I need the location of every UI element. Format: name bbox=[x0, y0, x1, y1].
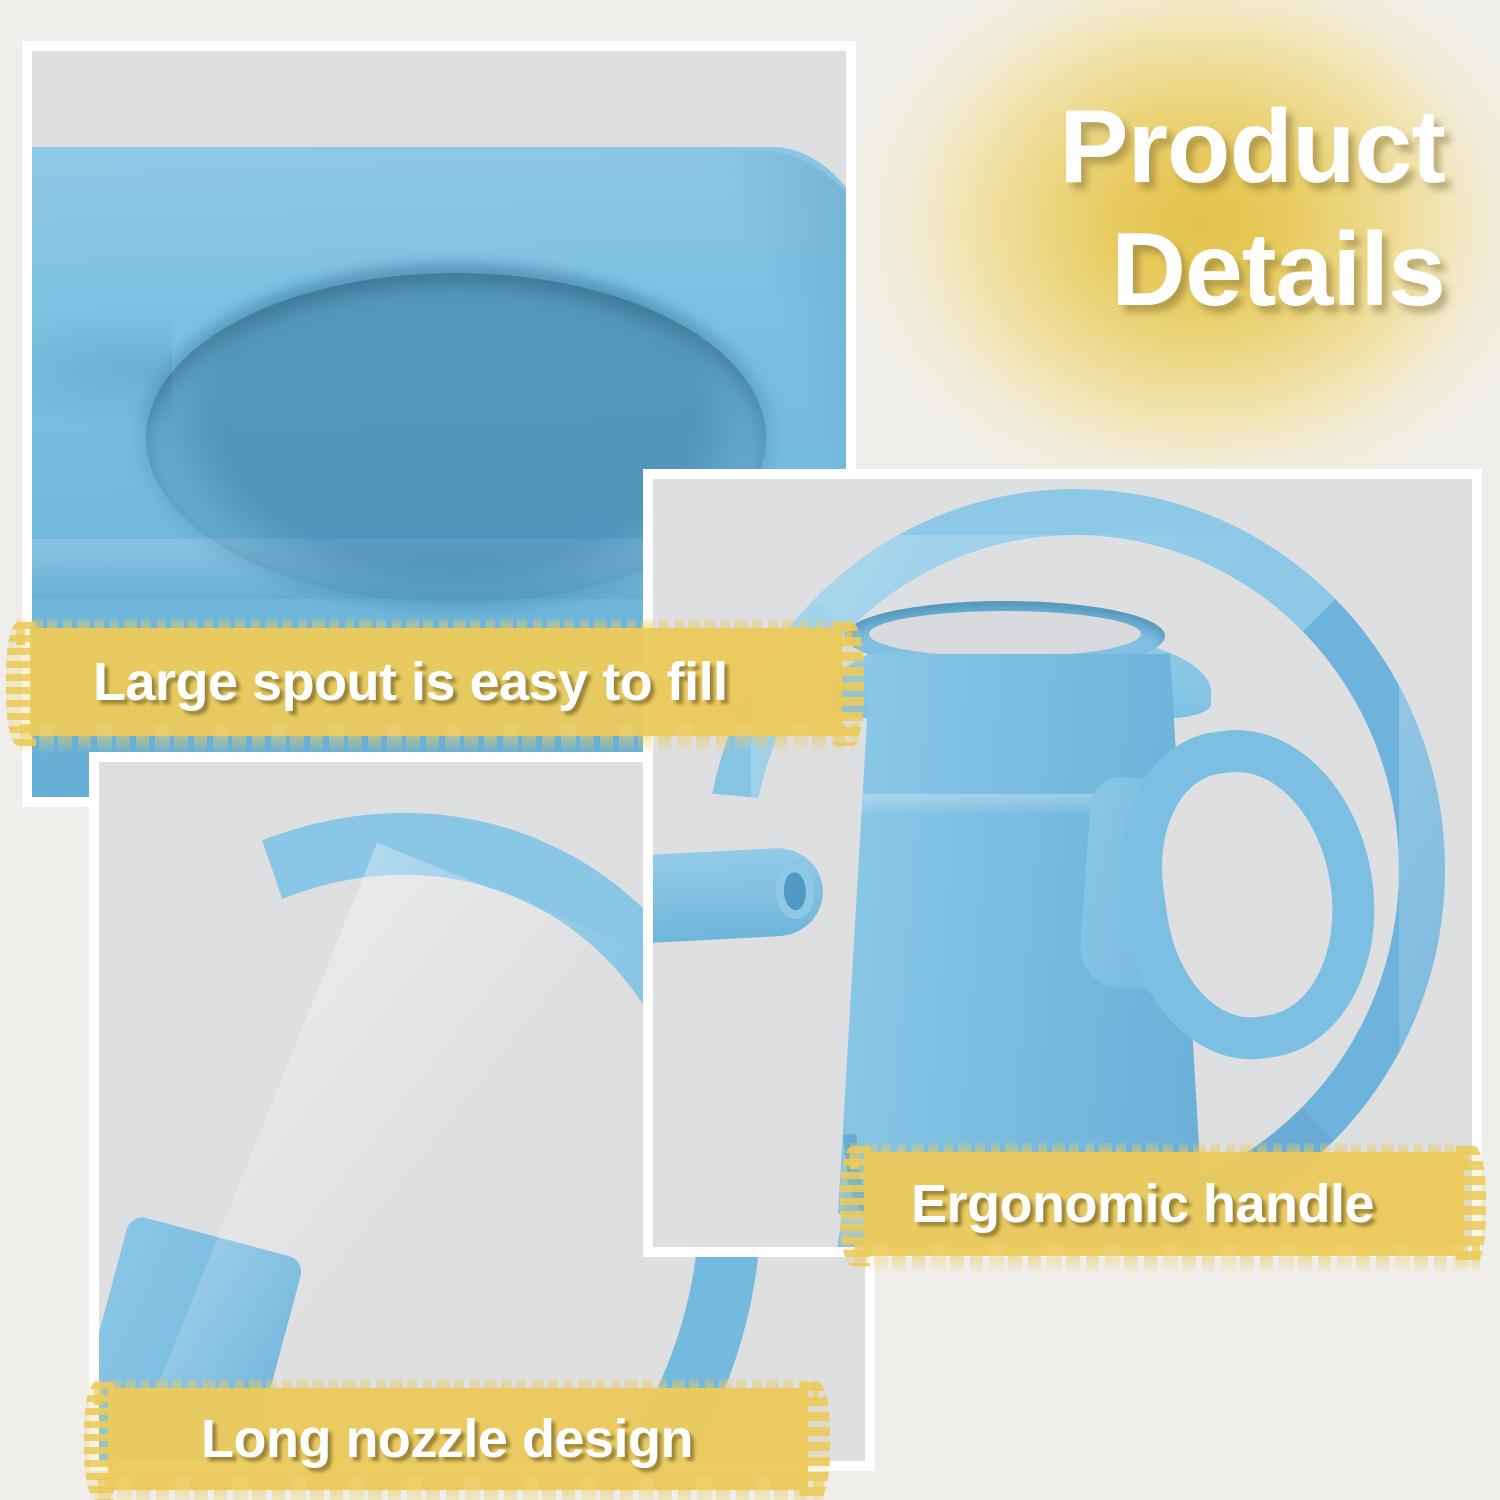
caption-nozzle-label: Long nozzle design bbox=[201, 1408, 693, 1470]
caption-spout: Large spout is easy to fill bbox=[30, 628, 842, 736]
page-title: Product Details bbox=[905, 86, 1445, 331]
caption-handle-label: Ergonomic handle bbox=[911, 1173, 1374, 1235]
brush-edge-left bbox=[84, 1382, 114, 1500]
caption-nozzle: Long nozzle design bbox=[108, 1388, 808, 1490]
caption-spout-label: Large spout is easy to fill bbox=[93, 651, 728, 713]
brush-edge-right bbox=[800, 1382, 830, 1500]
can-nozzle-stub-tip bbox=[773, 862, 816, 920]
product-details-page: Product Details bbox=[0, 0, 1500, 1500]
caption-handle: Ergonomic handle bbox=[864, 1152, 1464, 1256]
can-mouth-opening bbox=[869, 611, 1141, 657]
brush-edge-left bbox=[6, 622, 36, 746]
panel-handle[interactable] bbox=[643, 469, 1482, 1257]
brush-edge-right bbox=[1456, 1146, 1486, 1266]
brush-edge-right bbox=[834, 622, 864, 746]
handle-photo bbox=[653, 479, 1472, 1247]
brush-edge-left bbox=[840, 1146, 870, 1266]
can-nozzle-stub bbox=[653, 846, 825, 944]
